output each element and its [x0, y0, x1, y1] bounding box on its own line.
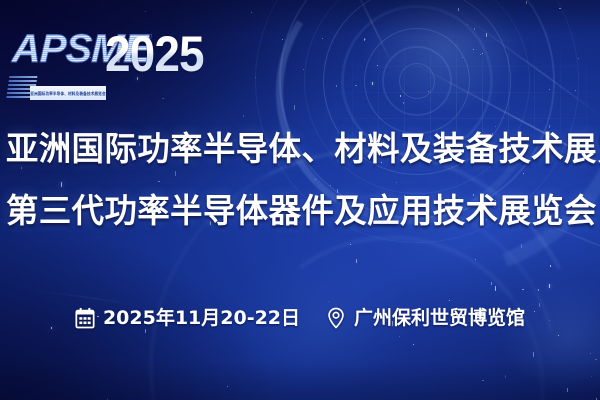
logo-subtitle-strip: 亚洲国际功率半导体、材料及装备技术展览会 — [30, 86, 106, 100]
banner-content: APSME 亚洲国际功率半导体、材料及装备技术展览会 2025 亚洲国际功率半导… — [0, 0, 600, 400]
event-date-text: 2025年11月20-22日 — [103, 306, 300, 330]
event-date-item: 2025年11月20-22日 — [75, 306, 300, 330]
logo-subtitle-text: 亚洲国际功率半导体、材料及装备技术展览会 — [30, 91, 105, 96]
location-pin-icon — [326, 307, 346, 329]
title-line-primary: 亚洲国际功率半导体、材料及装备技术展览会 — [6, 126, 594, 172]
event-venue-item: 广州保利世贸博览馆 — [326, 306, 525, 330]
event-venue-text: 广州保利世贸博览馆 — [354, 306, 525, 330]
event-year: 2025 — [105, 28, 204, 80]
calendar-icon — [75, 307, 95, 329]
event-meta-row: 2025年11月20-22日 广州保利世贸博览馆 — [0, 306, 600, 330]
title-line-secondary: 第三代功率半导体器件及应用技术展览会 — [6, 188, 594, 234]
exhibition-banner: APSME 亚洲国际功率半导体、材料及装备技术展览会 2025 亚洲国际功率半导… — [0, 0, 600, 400]
apsme-logo: APSME 亚洲国际功率半导体、材料及装备技术展览会 — [8, 26, 106, 100]
title-block: 亚洲国际功率半导体、材料及装备技术展览会 第三代功率半导体器件及应用技术展览会 — [0, 126, 600, 234]
